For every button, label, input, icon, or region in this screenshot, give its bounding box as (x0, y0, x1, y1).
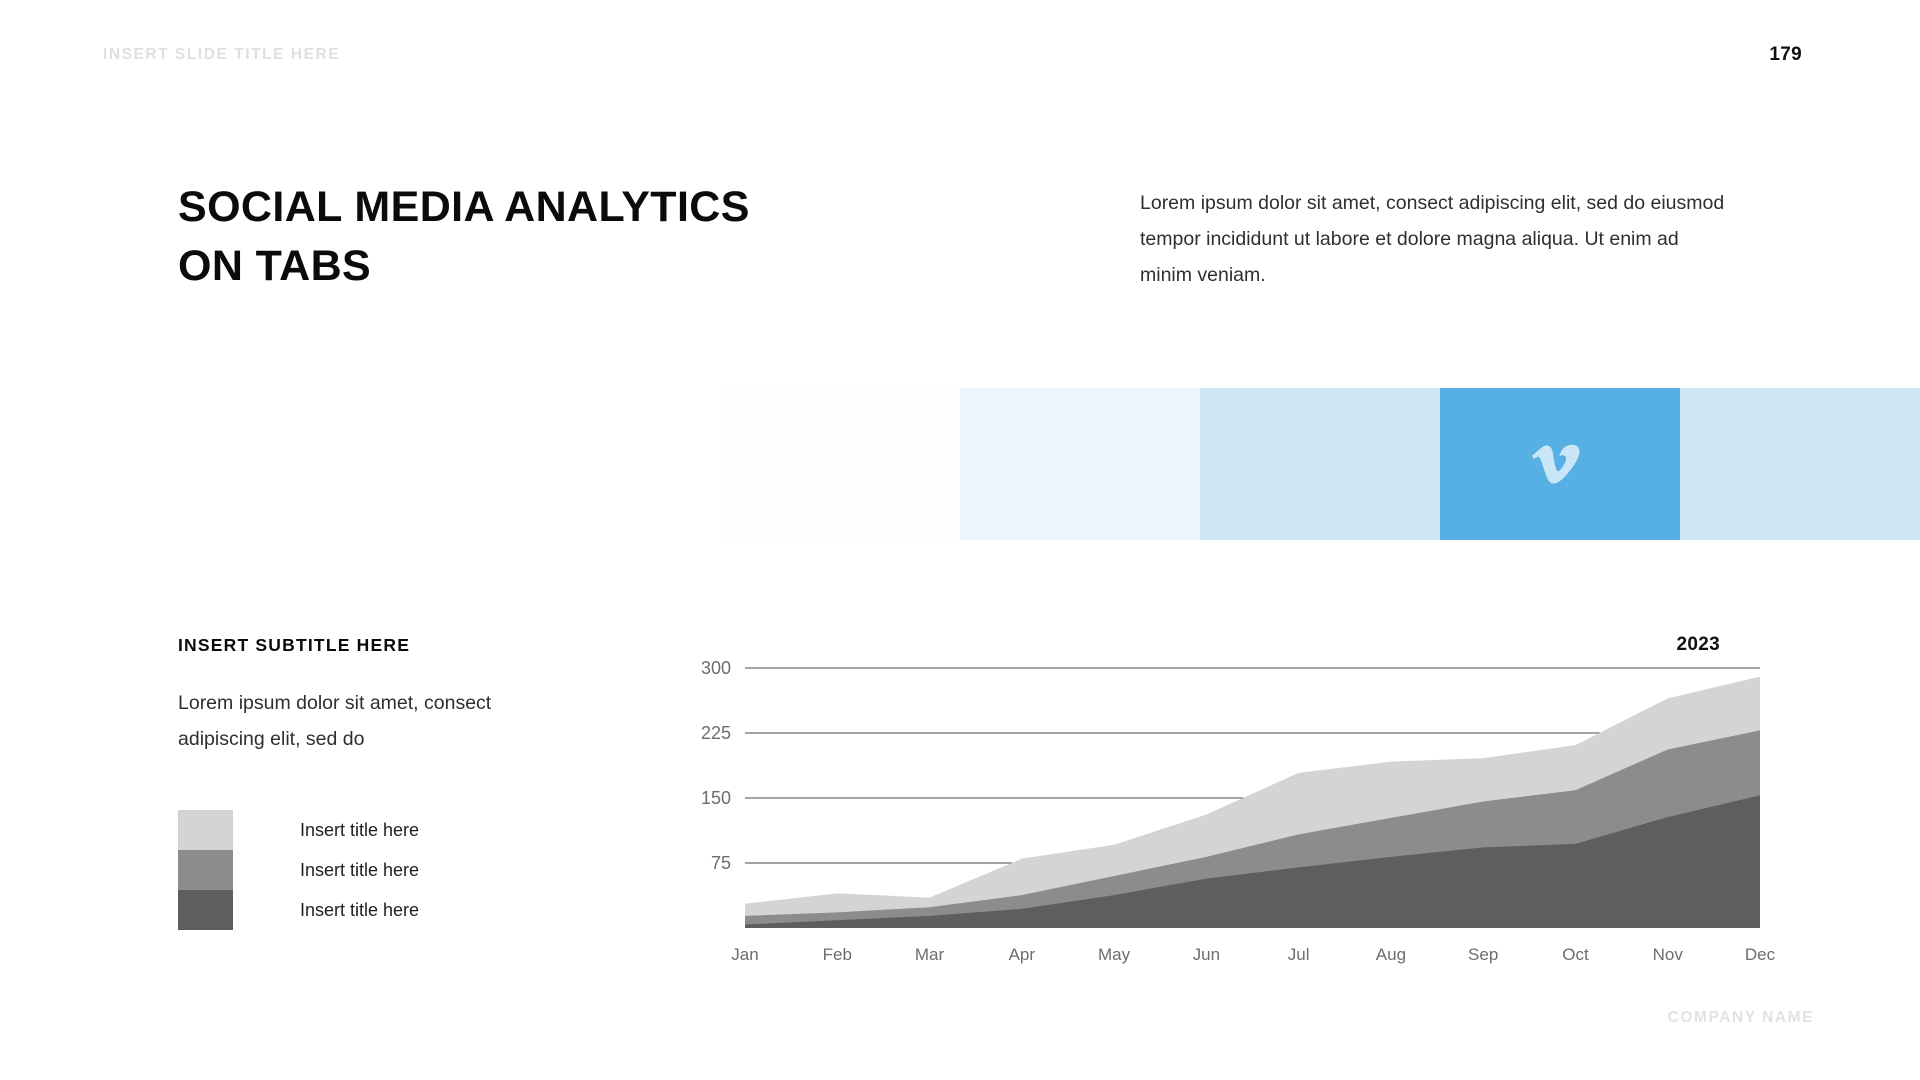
section-subtitle: INSERT SUBTITLE HERE (178, 635, 410, 656)
tab-5[interactable] (1680, 388, 1920, 540)
x-axis-tick-label: Dec (1745, 945, 1776, 964)
slide-root: INSERT SLIDE TITLE HERE 179 SOCIAL MEDIA… (0, 0, 1920, 1080)
x-axis-tick-label: Jul (1288, 945, 1310, 964)
legend-item: Insert title here (178, 890, 419, 930)
y-axis-tick-label: 225 (701, 723, 731, 743)
x-axis-tick-label: May (1098, 945, 1131, 964)
legend-item: Insert title here (178, 810, 419, 850)
legend-label: Insert title here (300, 860, 419, 881)
section-body-text: Lorem ipsum dolor sit amet, consect adip… (178, 685, 558, 757)
chart-container: 75150225300JanFebMarAprMayJunJulAugSepOc… (680, 660, 1800, 990)
page-number: 179 (1769, 44, 1802, 66)
y-axis-tick-label: 150 (701, 788, 731, 808)
footer-company-name: COMPANY NAME (1668, 1009, 1814, 1027)
chart-legend: Insert title hereInsert title hereInsert… (178, 810, 419, 930)
x-axis-tick-label: Apr (1009, 945, 1036, 964)
x-axis-tick-label: Sep (1468, 945, 1498, 964)
y-axis-tick-label: 75 (711, 853, 731, 873)
vimeo-icon (1532, 436, 1588, 492)
stacked-area-chart: 75150225300JanFebMarAprMayJunJulAugSepOc… (680, 660, 1800, 990)
x-axis-tick-label: Nov (1653, 945, 1684, 964)
tab-band-spacer (0, 388, 720, 540)
tab-2[interactable] (960, 388, 1200, 540)
chart-year-label: 2023 (1677, 634, 1720, 656)
x-axis-tick-label: Aug (1376, 945, 1406, 964)
tab-3[interactable] (1200, 388, 1440, 540)
legend-swatch (178, 850, 233, 890)
x-axis-tick-label: Jun (1193, 945, 1220, 964)
x-axis-tick-label: Mar (915, 945, 945, 964)
legend-item: Insert title here (178, 850, 419, 890)
intro-paragraph: Lorem ipsum dolor sit amet, consect adip… (1140, 185, 1730, 293)
legend-swatch (178, 890, 233, 930)
tab-1[interactable] (720, 388, 960, 540)
x-axis-tick-label: Jan (731, 945, 758, 964)
x-axis-tick-label: Oct (1562, 945, 1589, 964)
page-title: SOCIAL MEDIA ANALYTICS ON TABS (178, 178, 798, 296)
y-axis-tick-label: 300 (701, 660, 731, 678)
legend-label: Insert title here (300, 900, 419, 921)
social-tab-band (0, 388, 1920, 540)
tab-4-active[interactable] (1440, 388, 1680, 540)
x-axis-tick-label: Feb (823, 945, 852, 964)
legend-swatch (178, 810, 233, 850)
slide-header-title: INSERT SLIDE TITLE HERE (103, 46, 340, 64)
legend-label: Insert title here (300, 820, 419, 841)
